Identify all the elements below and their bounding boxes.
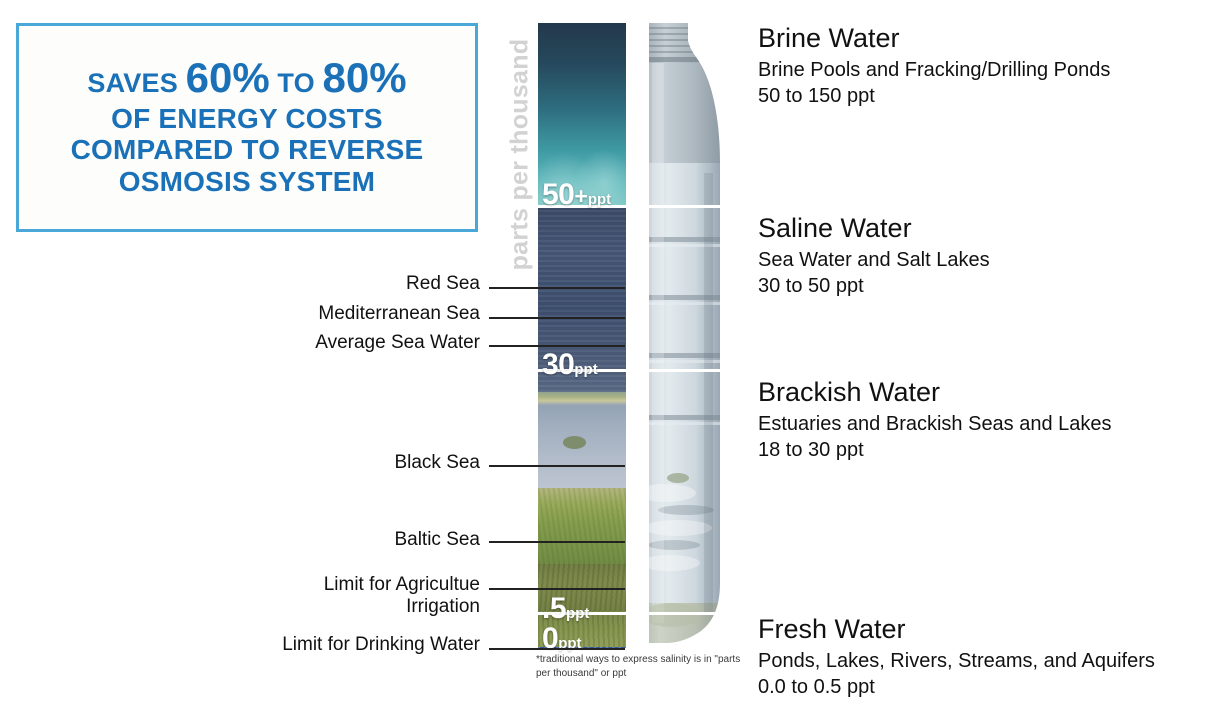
category-fresh-range: 0.0 to 0.5 ppt — [758, 674, 1155, 700]
callout-label-agriculture: Limit for Agricultue Irrigation — [190, 574, 480, 618]
leader-line-agriculture — [489, 588, 625, 590]
ppt-marker-50: 50+ppt — [542, 178, 611, 212]
callout-label-mediterranean: Mediterranean Sea — [190, 303, 480, 325]
category-saline-title: Saline Water — [758, 214, 990, 244]
savings-callout-box: SAVES 60% TO 80% OF ENERGY COSTS COMPARE… — [16, 23, 478, 232]
axis-caption-label: parts per thousand — [506, 39, 535, 271]
ppt-marker-50-plus: + — [574, 183, 587, 209]
category-brackish-sources: Estuaries and Brackish Seas and Lakes — [758, 411, 1112, 437]
leader-line-drinking-water — [489, 648, 625, 650]
salinity-scale-strip — [538, 23, 626, 648]
category-brackish-title: Brackish Water — [758, 378, 1112, 408]
category-brackish-range: 18 to 30 ppt — [758, 437, 1112, 463]
category-fresh-sources: Ponds, Lakes, Rivers, Streams, and Aquif… — [758, 648, 1155, 674]
callout-label-red-sea: Red Sea — [190, 273, 480, 295]
callout-label-black-sea: Black Sea — [190, 452, 480, 474]
leader-line-black-sea — [489, 465, 625, 467]
category-brine-title: Brine Water — [758, 24, 1110, 54]
band-brackish-lower — [538, 488, 626, 564]
savings-headline: SAVES 60% TO 80% — [87, 54, 406, 101]
category-saline-sources: Sea Water and Salt Lakes — [758, 247, 990, 273]
ppt-marker-30-value: 30 — [542, 348, 574, 381]
category-brine-water: Brine Water Brine Pools and Fracking/Dri… — [758, 24, 1110, 109]
leader-line-red-sea — [489, 287, 625, 289]
category-brine-sources: Brine Pools and Fracking/Drilling Ponds — [758, 57, 1110, 83]
ppt-marker-zero: 0ppt — [542, 622, 582, 656]
savings-value-high: 80% — [323, 54, 407, 101]
savings-line-2: OF ENERGY COSTS — [111, 103, 383, 134]
callout-label-drinking-water: Limit for Drinking Water — [190, 634, 480, 656]
ppt-marker-point5: .5ppt — [542, 592, 589, 626]
ppt-marker-point5-value: .5 — [542, 592, 566, 625]
category-saline-water: Saline Water Sea Water and Salt Lakes 30… — [758, 214, 990, 299]
savings-line-3: COMPARED TO REVERSE — [71, 134, 424, 165]
ppt-marker-zero-value: 0 — [542, 622, 558, 655]
leader-line-average-sea — [489, 345, 625, 347]
ppt-marker-30-unit: ppt — [574, 361, 597, 378]
savings-line-4: OSMOSIS SYSTEM — [119, 166, 375, 197]
ppt-marker-point5-unit: ppt — [566, 605, 589, 622]
callout-label-average-sea: Average Sea Water — [190, 332, 480, 354]
ppt-marker-50-value: 50 — [542, 178, 574, 211]
category-fresh-title: Fresh Water — [758, 615, 1155, 645]
water-bottle-image — [626, 23, 738, 648]
leader-line-baltic-sea — [489, 541, 625, 543]
category-brine-range: 50 to 150 ppt — [758, 83, 1110, 109]
callout-label-baltic-sea: Baltic Sea — [190, 529, 480, 551]
leader-line-mediterranean — [489, 317, 625, 319]
savings-value-low: 60% — [186, 54, 270, 101]
category-fresh-water: Fresh Water Ponds, Lakes, Rivers, Stream… — [758, 615, 1155, 700]
ppt-marker-30: 30ppt — [542, 348, 598, 382]
bottle-icon — [626, 23, 738, 648]
savings-prefix: SAVES — [87, 68, 185, 98]
ppt-marker-50-unit: ppt — [588, 191, 611, 208]
savings-conjunction: TO — [270, 68, 323, 98]
category-saline-range: 30 to 50 ppt — [758, 273, 990, 299]
axis-caption: parts per thousand — [500, 28, 540, 286]
salinity-footnote: *traditional ways to express salinity is… — [536, 653, 742, 680]
category-brackish-water: Brackish Water Estuaries and Brackish Se… — [758, 378, 1112, 463]
band-brackish-upper — [538, 392, 626, 488]
